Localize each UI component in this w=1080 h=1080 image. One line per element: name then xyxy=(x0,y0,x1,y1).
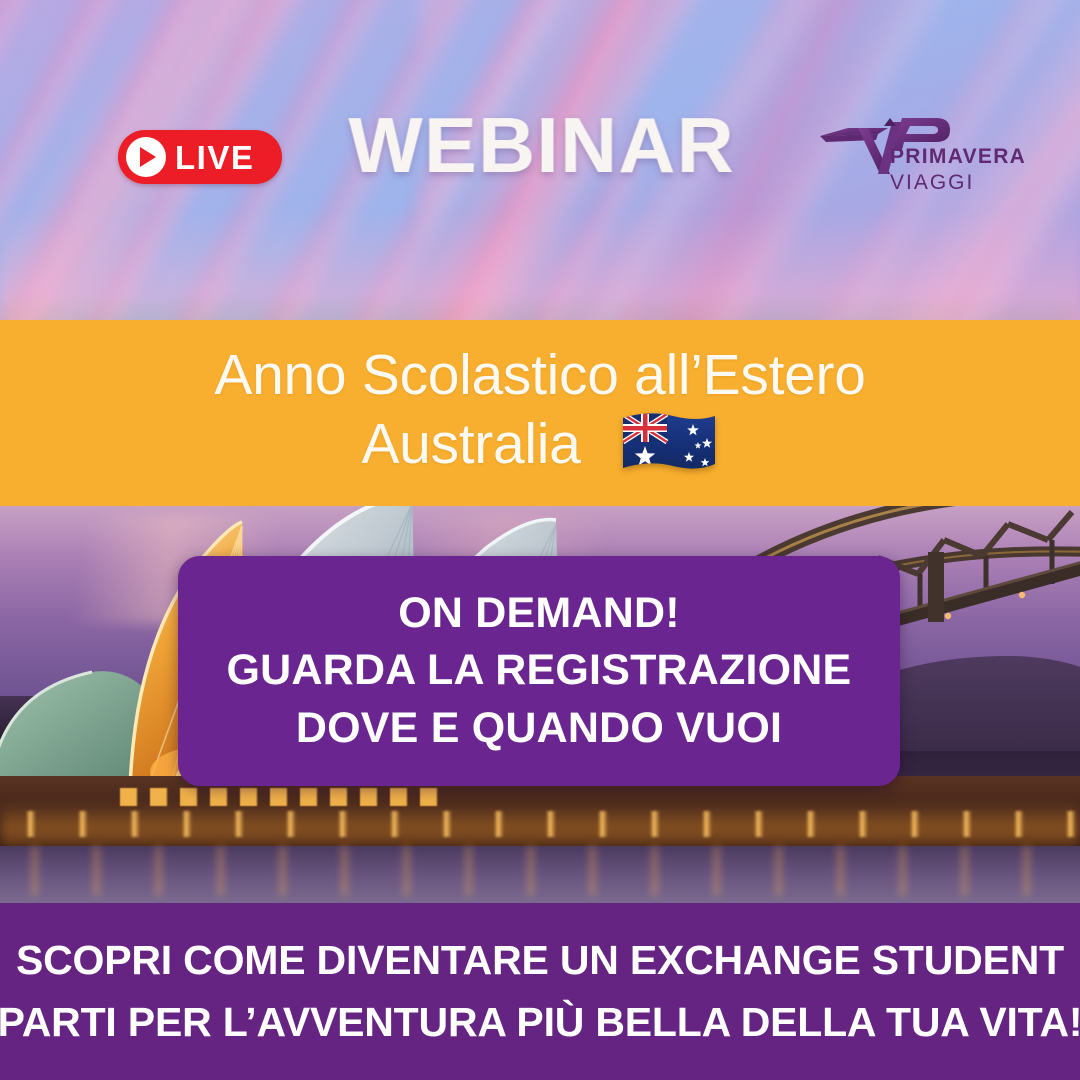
bottom-cta-line-2: PARTI PER L’AVVENTURA PIÙ BELLA DELLA TU… xyxy=(0,992,1080,1054)
on-demand-callout: ON DEMAND! GUARDA LA REGISTRAZIONE DOVE … xyxy=(178,556,900,786)
callout-line-2: GUARDA LA REGISTRAZIONE xyxy=(227,642,852,699)
play-icon xyxy=(126,137,166,177)
course-title-line2-row: Australia xyxy=(361,408,718,480)
callout-line-1: ON DEMAND! xyxy=(398,585,679,642)
sky-horizon-glow xyxy=(0,210,1080,330)
logo-name-primavera: PRIMAVERA xyxy=(890,146,1026,167)
course-title-banner: Anno Scolastico all’Estero Australia xyxy=(0,320,1080,506)
primavera-viaggi-logo[interactable]: PRIMAVERA VIAGGI xyxy=(818,112,1003,198)
live-badge[interactable]: LIVE xyxy=(118,130,282,184)
webinar-promo-poster: LIVE WEBINAR PRIMAVERA VIAGGI xyxy=(0,0,1080,1080)
logo-name-viaggi: VIAGGI xyxy=(890,172,1026,193)
promenade-lamps xyxy=(0,811,1080,837)
water-reflections xyxy=(0,846,1080,896)
bottom-cta-banner: SCOPRI COME DIVENTARE UN EXCHANGE STUDEN… xyxy=(0,903,1080,1080)
bottom-cta-line-1: SCOPRI COME DIVENTARE UN EXCHANGE STUDEN… xyxy=(16,930,1064,992)
logo-wordmark: PRIMAVERA VIAGGI xyxy=(890,146,1026,193)
page-title: WEBINAR xyxy=(322,106,762,184)
play-triangle-icon xyxy=(140,147,156,167)
course-title-line1: Anno Scolastico all’Estero xyxy=(214,346,865,404)
australia-flag-icon xyxy=(619,408,719,480)
live-badge-label: LIVE xyxy=(175,141,254,174)
course-title-line2: Australia xyxy=(361,415,580,473)
callout-line-3: DOVE E QUANDO VUOI xyxy=(296,700,782,757)
